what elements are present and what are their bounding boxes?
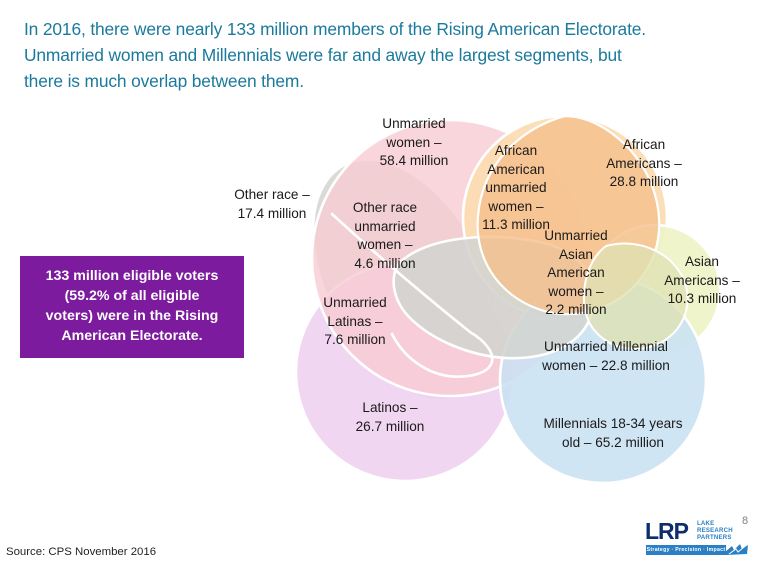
lrp-logo-mark: LRP	[645, 520, 688, 543]
lrp-logo: LRP LAKE RESEARCH PARTNERS Strategy · Pr…	[645, 518, 749, 558]
venn-label-other-race: Other race – 17.4 million	[212, 186, 332, 223]
callout-line-1: 133 million eligible voters	[28, 266, 236, 286]
slide-canvas: In 2016, there were nearly 133 million m…	[0, 0, 760, 571]
page-title: In 2016, there were nearly 133 million m…	[24, 16, 740, 94]
venn-label-asian-americans: Asian Americans – 10.3 million	[648, 253, 756, 309]
callout-line-4: American Electorate.	[28, 326, 236, 346]
venn-stroke-accent-2	[392, 332, 492, 377]
source-note: Source: CPS November 2016	[6, 546, 156, 558]
lrp-logo-tagline: Strategy · Precision · Impact	[646, 545, 726, 555]
title-line-3: there is much overlap between them.	[24, 68, 740, 94]
lrp-logo-swoosh-icon	[723, 543, 749, 556]
callout-line-3: voters) were in the Rising	[28, 306, 236, 326]
venn-label-unmarried-asian-american-women: Unmarried Asian American women – 2.2 mil…	[528, 227, 624, 320]
venn-label-african-american-unmarried-women: African American unmarried women – 11.3 …	[461, 142, 571, 235]
title-line-1: In 2016, there were nearly 133 million m…	[24, 16, 740, 42]
venn-label-unmarried-millennial-women: Unmarried Millennial women – 22.8 millio…	[516, 338, 696, 375]
venn-label-unmarried-latinas: Unmarried Latinas – 7.6 million	[303, 294, 407, 350]
lrp-logo-words: LAKE RESEARCH PARTNERS	[697, 520, 733, 542]
venn-label-other-race-unmarried-women: Other race unmarried women – 4.6 million	[333, 199, 437, 273]
callout-box: 133 million eligible voters (59.2% of al…	[20, 256, 244, 358]
venn-label-millennials: Millennials 18-34 years old – 65.2 milli…	[523, 415, 703, 452]
callout-line-2: (59.2% of all eligible	[28, 286, 236, 306]
venn-label-latinos: Latinos – 26.7 million	[338, 399, 442, 436]
title-line-2: Unmarried women and Millennials were far…	[24, 42, 740, 68]
venn-label-african-americans: African Americans – 28.8 million	[582, 136, 706, 192]
